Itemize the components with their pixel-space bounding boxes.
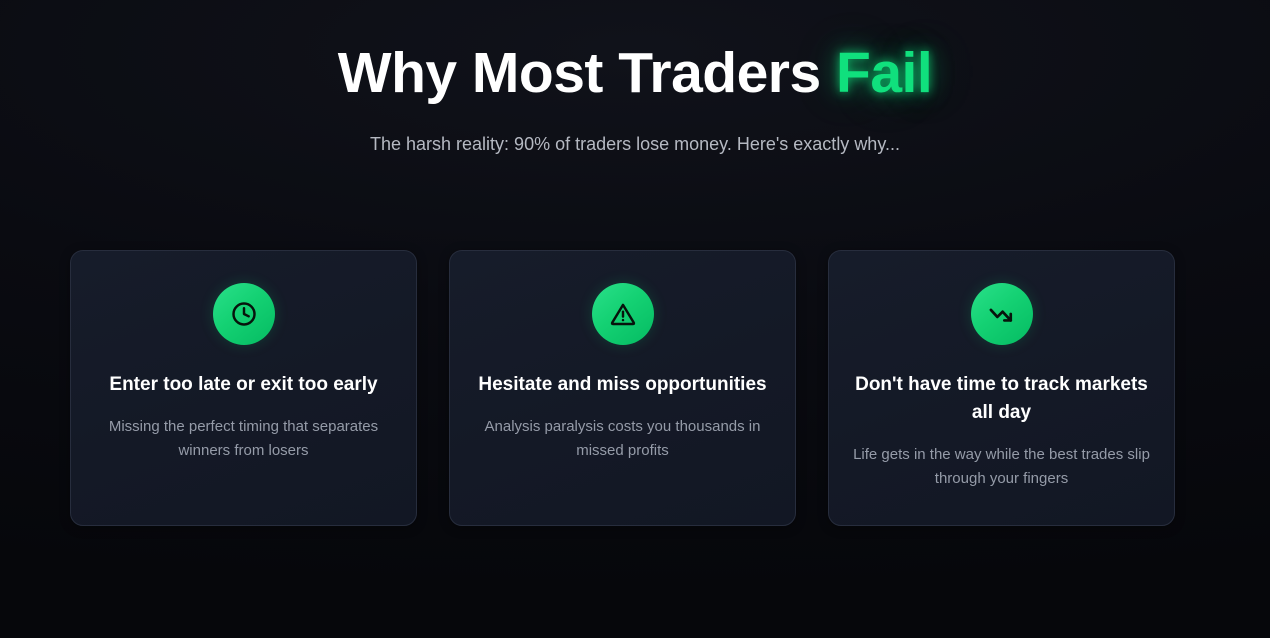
section-header: Why Most Traders Fail The harsh reality:…: [0, 0, 1270, 157]
page-title-accent: Fail: [836, 41, 932, 105]
pain-point-card: Hesitate and miss opportunities Analysis…: [449, 250, 796, 526]
clock-icon: [213, 283, 275, 345]
warning-triangle-icon: [592, 283, 654, 345]
card-description: Missing the perfect timing that separate…: [95, 415, 392, 463]
card-description: Analysis paralysis costs you thousands i…: [474, 415, 771, 463]
page-title: Why Most Traders Fail: [0, 44, 1270, 104]
card-title: Hesitate and miss opportunities: [474, 371, 771, 399]
card-description: Life gets in the way while the best trad…: [853, 443, 1150, 491]
pain-point-card-grid: Enter too late or exit too early Missing…: [70, 250, 1175, 526]
card-title: Enter too late or exit too early: [95, 371, 392, 399]
why-traders-fail-section: Why Most Traders Fail The harsh reality:…: [0, 0, 1270, 638]
card-title: Don't have time to track markets all day: [853, 371, 1150, 427]
page-subtitle: The harsh reality: 90% of traders lose m…: [0, 132, 1270, 157]
pain-point-card: Enter too late or exit too early Missing…: [70, 250, 417, 526]
trending-down-icon: [971, 283, 1033, 345]
page-title-main: Why Most Traders: [338, 41, 836, 105]
pain-point-card: Don't have time to track markets all day…: [828, 250, 1175, 526]
